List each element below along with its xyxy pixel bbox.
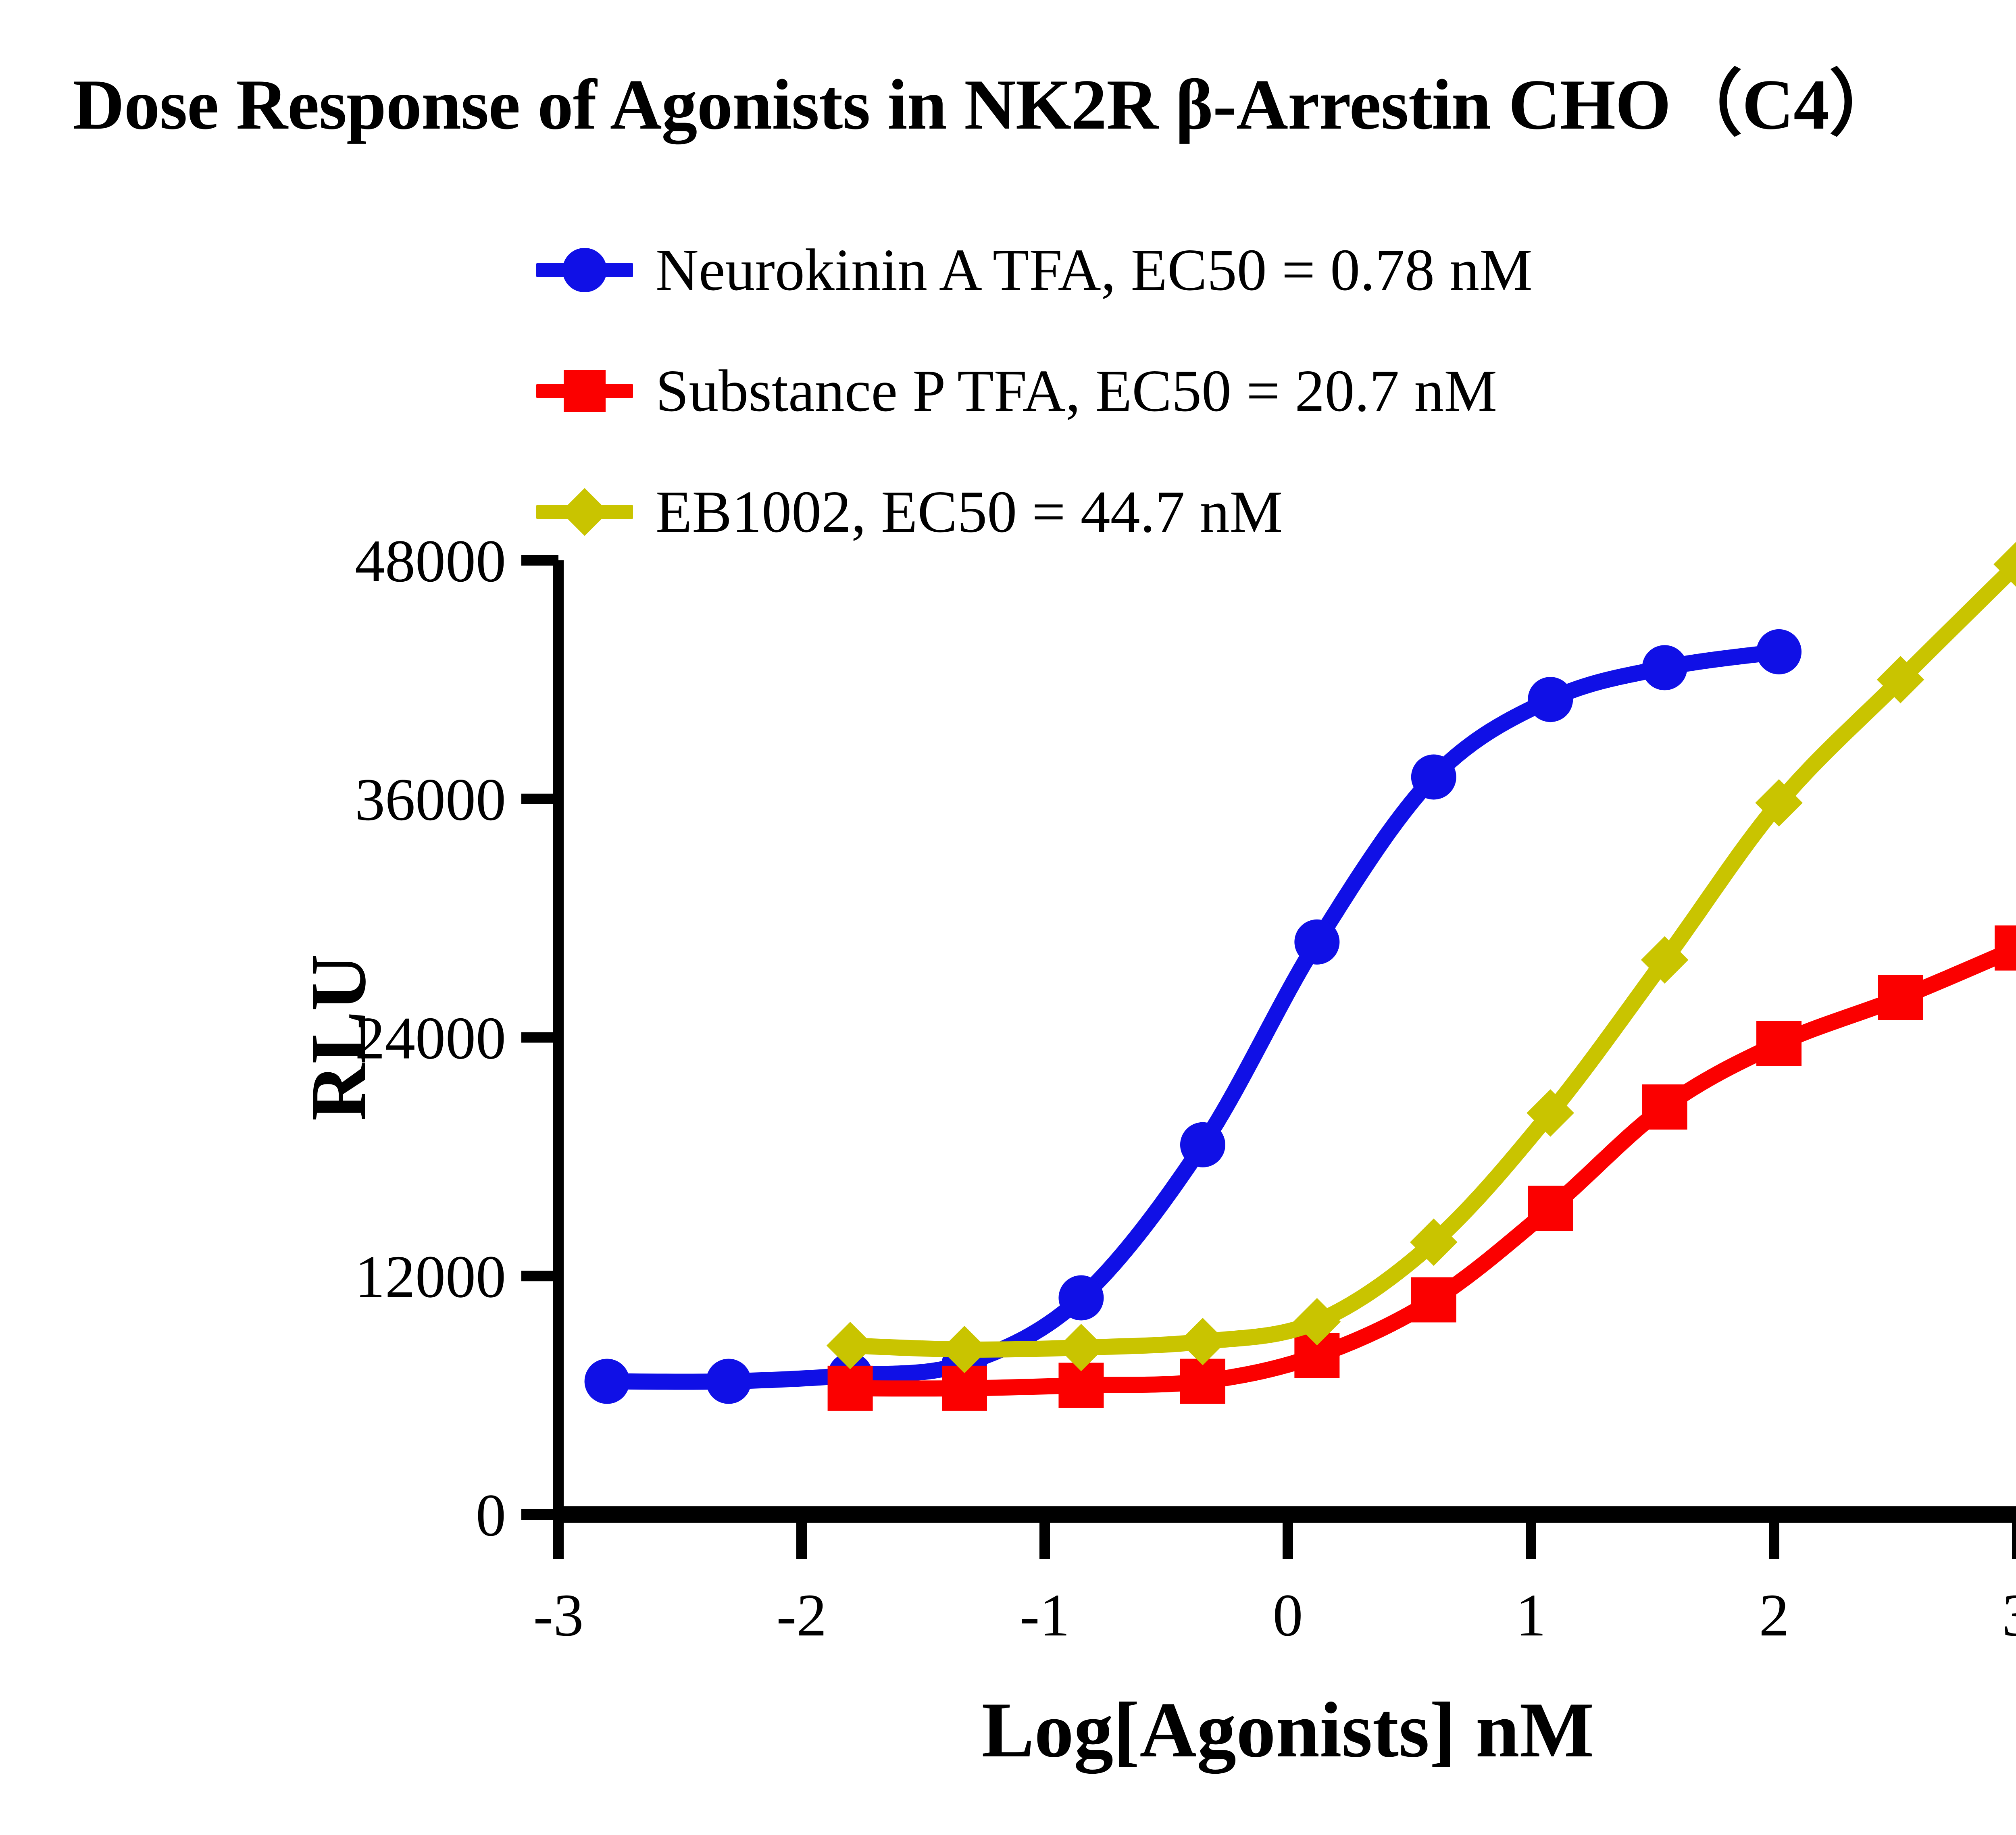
series-line-square (850, 948, 2016, 1389)
data-point-marker (1995, 926, 2016, 971)
data-point-marker (1411, 755, 1456, 800)
data-point-marker (1878, 975, 1923, 1020)
plot-area: 012000240003600048000-3-2-10123 Log[Agon… (0, 0, 2016, 1835)
x-tick-label: -3 (533, 1582, 584, 1649)
data-point-marker (1642, 1084, 1687, 1130)
x-axis-title: Log[Agonists] nM (981, 1686, 1594, 1774)
data-point-marker (706, 1359, 751, 1404)
x-tick-label: 1 (1516, 1582, 1546, 1649)
x-tick-label: 3 (2002, 1582, 2016, 1649)
figure-root: Dose Response of Agonists in NK2R β-Arre… (0, 0, 2016, 1835)
y-axis-title: RLU (295, 954, 382, 1121)
x-tick-label: 0 (1273, 1582, 1303, 1649)
series-group (585, 541, 2016, 1411)
data-point-marker (1756, 629, 1801, 674)
plot-svg: 012000240003600048000-3-2-10123 Log[Agon… (0, 0, 2016, 1835)
y-tick-label: 12000 (355, 1243, 506, 1310)
data-point-marker (1180, 1122, 1225, 1167)
data-point-marker (1179, 1318, 1227, 1365)
series-line-circle (607, 652, 1779, 1382)
y-tick-label: 36000 (355, 766, 506, 833)
data-point-marker (1180, 1359, 1225, 1404)
data-point-marker (1756, 1021, 1801, 1066)
data-point-marker (1058, 1275, 1104, 1320)
data-point-marker (585, 1359, 630, 1404)
tick-labels-group: 012000240003600048000-3-2-10123 (355, 528, 2016, 1649)
x-tick-label: -2 (777, 1582, 827, 1649)
data-point-marker (828, 1366, 873, 1411)
y-tick-label: 0 (476, 1482, 506, 1549)
x-tick-label: 2 (1759, 1582, 1789, 1649)
data-point-marker (1642, 645, 1687, 690)
data-point-marker (1411, 1277, 1456, 1322)
data-point-marker (1528, 1186, 1573, 1231)
data-point-marker (1528, 677, 1573, 722)
data-point-marker (1294, 920, 1339, 965)
x-tick-label: -1 (1020, 1582, 1070, 1649)
y-tick-label: 48000 (355, 528, 506, 595)
